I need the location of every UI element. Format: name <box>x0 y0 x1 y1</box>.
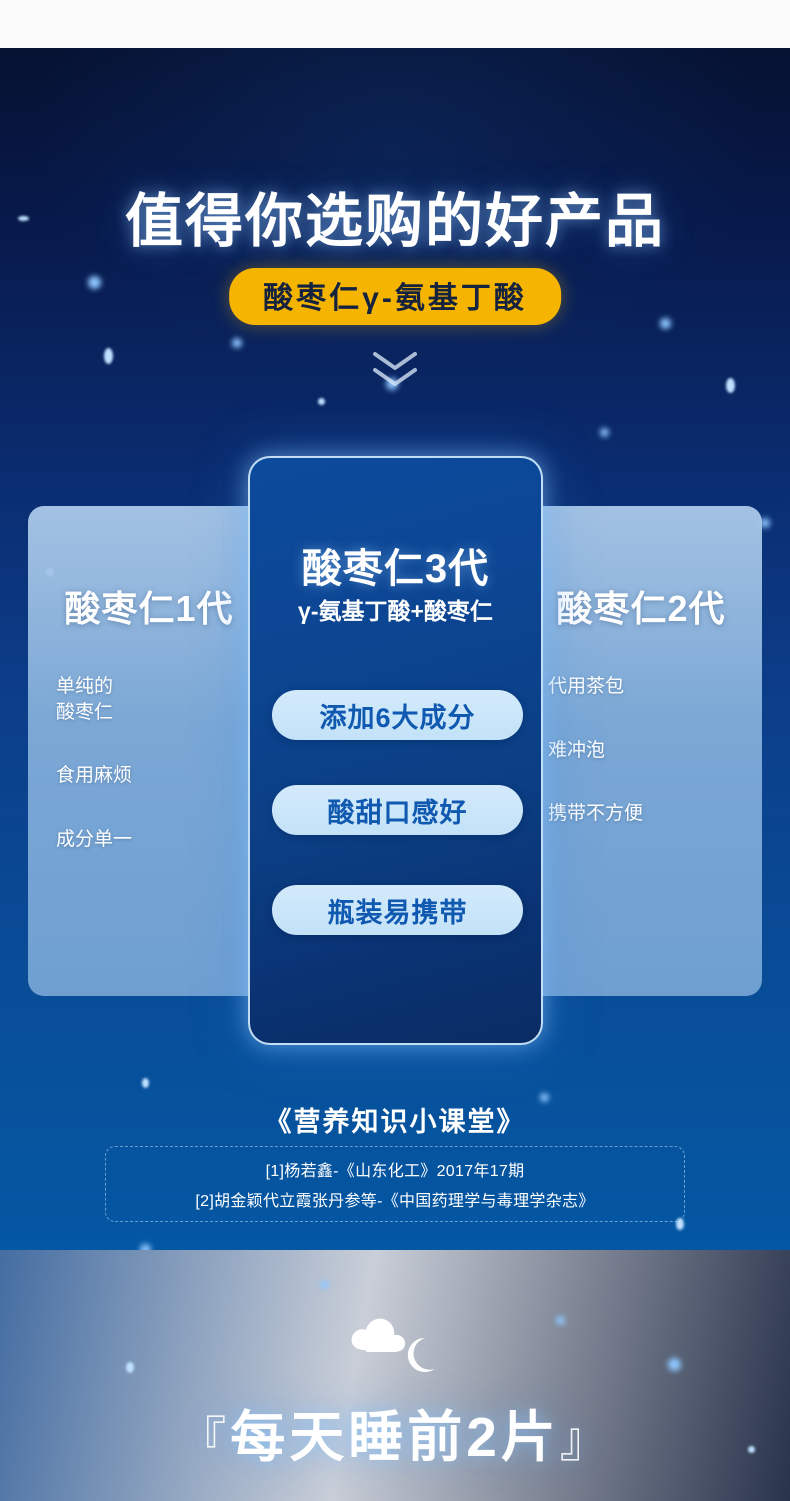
list-item: 成分单一 <box>56 827 256 853</box>
product-badge: 酸枣仁γ-氨基丁酸 <box>229 268 561 325</box>
list-item: 代用茶包 <box>548 674 748 700</box>
comparison-card-gen3-highlight[interactable]: 酸枣仁3代 γ-氨基丁酸+酸枣仁 添加6大成分 酸甜口感好 瓶装易携带 <box>248 456 543 1045</box>
star-particle <box>142 1078 149 1088</box>
feature-pill-taste[interactable]: 酸甜口感好 <box>272 785 523 835</box>
references-title: 《营养知识小课堂》 <box>0 1100 790 1139</box>
bracket-open: 『 <box>178 1414 230 1467</box>
night-content: 『每天睡前2片』 <box>0 1250 790 1501</box>
feature-pill-ingredients[interactable]: 添加6大成分 <box>272 690 523 740</box>
star-particle <box>318 398 325 405</box>
feature-pill-portable[interactable]: 瓶装易携带 <box>272 885 523 935</box>
star-particle <box>232 338 242 348</box>
comparison-section: 值得你选购的好产品 酸枣仁γ-氨基丁酸 酸枣仁1代 单纯的 酸枣仁 食用麻烦 成… <box>0 48 790 1250</box>
card-title-gen1: 酸枣仁1代 <box>28 580 270 632</box>
comparison-card-gen2[interactable]: 酸枣仁2代 代用茶包 难冲泡 携带不方便 <box>520 506 762 996</box>
card-points-gen2: 代用茶包 难冲泡 携带不方便 <box>548 674 748 865</box>
star-particle <box>726 378 735 393</box>
cloud-moon-icon <box>345 1312 445 1374</box>
star-particle <box>126 1362 134 1373</box>
reference-item: [2]胡金颖代立霞张丹参等-《中国药理学与毒理学杂志》 <box>195 1187 594 1211</box>
list-item: 单纯的 酸枣仁 <box>56 674 256 725</box>
card-subtitle-gen3: γ-氨基丁酸+酸枣仁 <box>250 592 541 626</box>
double-chevron-down-icon <box>367 348 423 392</box>
star-particle <box>320 1280 329 1289</box>
list-item: 食用麻烦 <box>56 763 256 789</box>
references-box: [1]杨若鑫-《山东化工》2017年17期 [2]胡金颖代立霞张丹参等-《中国药… <box>105 1146 685 1222</box>
star-particle <box>104 348 113 364</box>
sleep-instruction: 『每天睡前2片』 <box>0 1392 790 1472</box>
bracket-close: 』 <box>560 1414 612 1467</box>
star-particle <box>88 276 101 289</box>
card-points-gen1: 单纯的 酸枣仁 食用麻烦 成分单一 <box>56 674 256 891</box>
page-title: 值得你选购的好产品 <box>0 174 790 258</box>
star-particle <box>556 1316 565 1325</box>
list-item: 难冲泡 <box>548 738 748 764</box>
card-title-gen2: 酸枣仁2代 <box>520 580 762 632</box>
card-title-gen3: 酸枣仁3代 <box>250 536 541 594</box>
star-particle <box>660 318 671 329</box>
star-particle <box>668 1358 681 1371</box>
comparison-card-gen1[interactable]: 酸枣仁1代 单纯的 酸枣仁 食用麻烦 成分单一 <box>28 506 270 996</box>
list-item: 携带不方便 <box>548 801 748 827</box>
night-banner-section: 『每天睡前2片』 <box>0 1250 790 1501</box>
sleep-instruction-text: 每天睡前2片 <box>230 1406 560 1468</box>
top-white-strip <box>0 0 790 48</box>
reference-item: [1]杨若鑫-《山东化工》2017年17期 <box>266 1157 525 1181</box>
promo-page: 值得你选购的好产品 酸枣仁γ-氨基丁酸 酸枣仁1代 单纯的 酸枣仁 食用麻烦 成… <box>0 0 790 1501</box>
star-particle <box>600 428 609 437</box>
